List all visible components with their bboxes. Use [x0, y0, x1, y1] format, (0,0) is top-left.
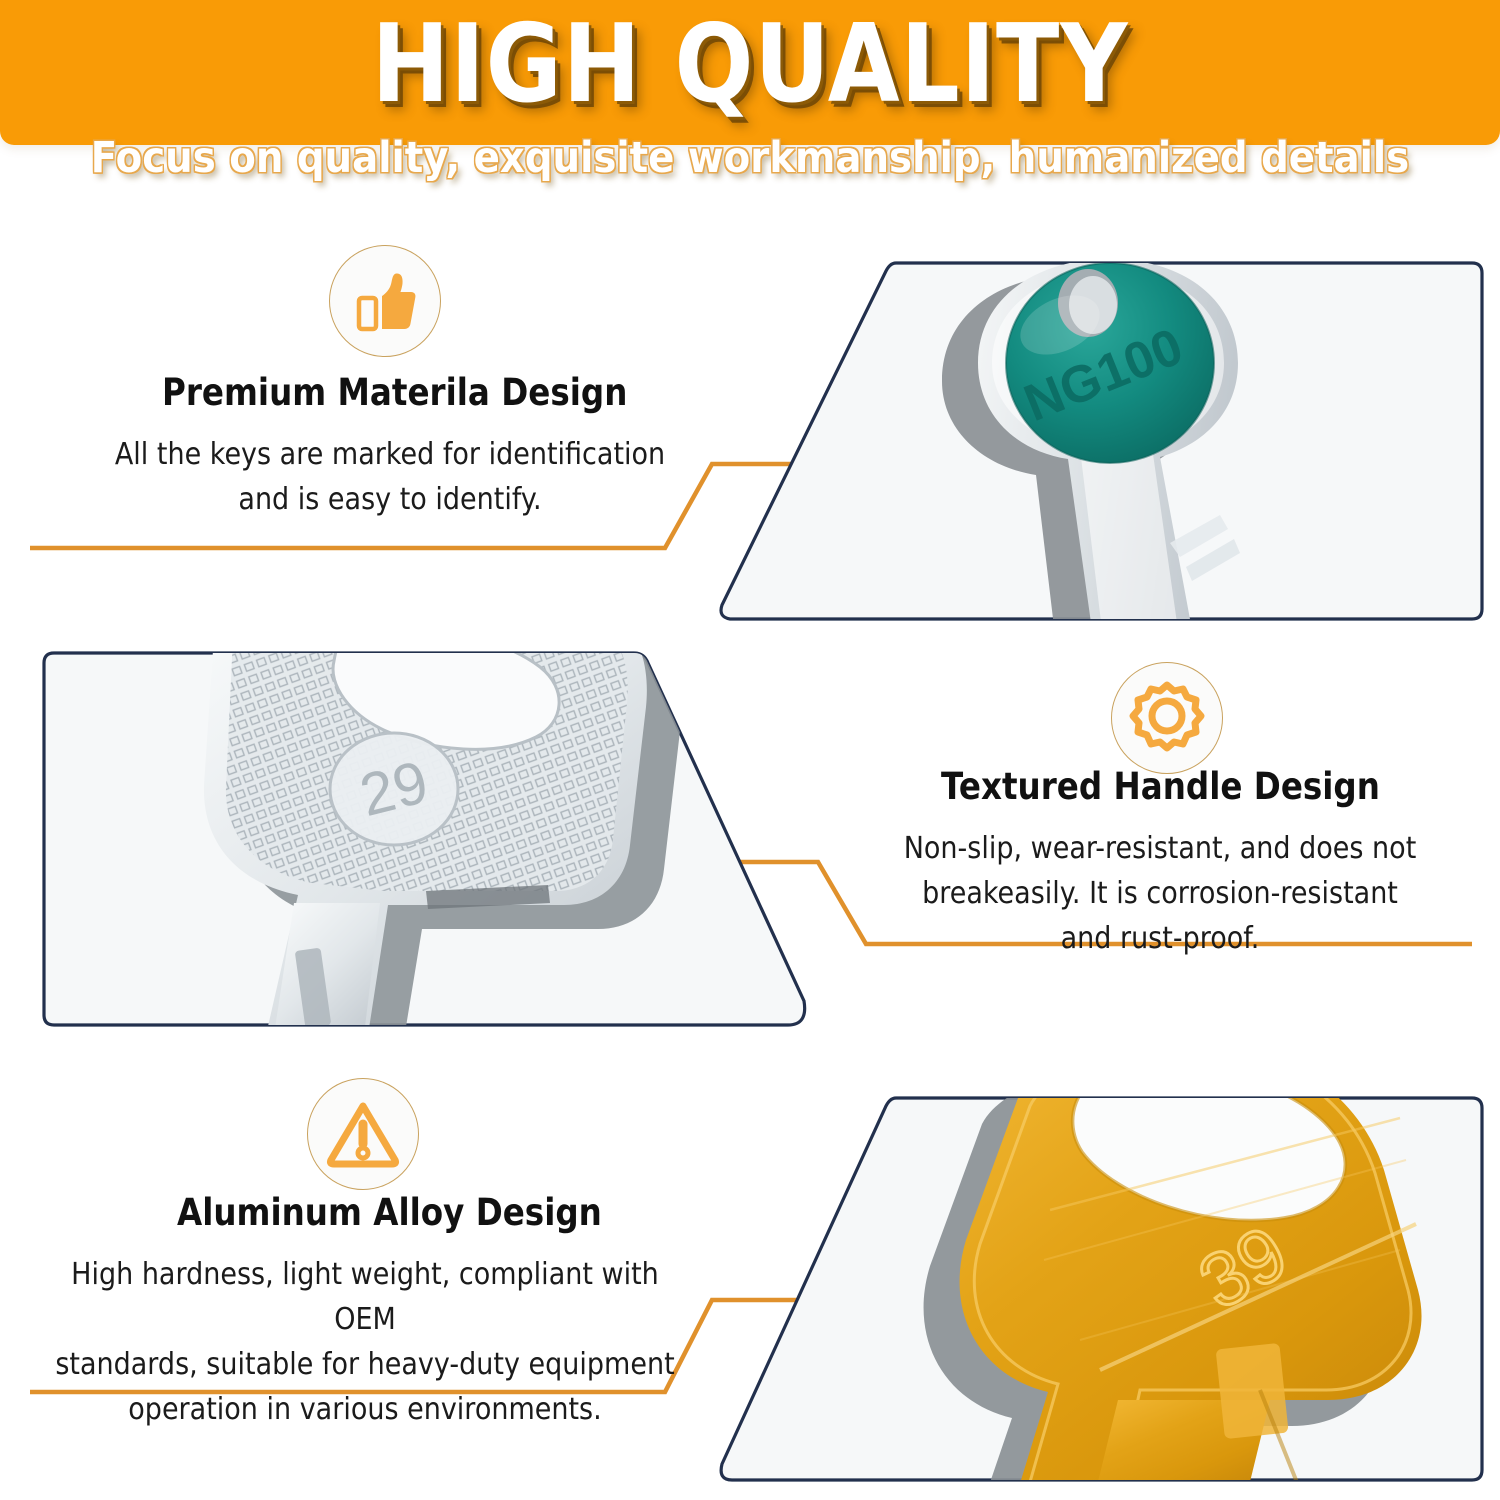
- feature-body-textured-handle: Non-slip, wear-resistant, and does not b…: [872, 826, 1448, 961]
- feature-body-line: standards, suitable for heavy-duty equip…: [46, 1342, 685, 1387]
- infographic-page: HIGH QUALITY Focus on quality, exquisite…: [0, 0, 1500, 1500]
- photo-panel-key-39: 39: [700, 1090, 1500, 1490]
- feature-body-aluminum-alloy: High hardness, light weight, compliant w…: [46, 1252, 685, 1432]
- photo-panel-key-ng100: NG100: [700, 255, 1500, 630]
- thumbs-up-icon: [329, 245, 441, 357]
- photo-panel-key-29: 29: [28, 645, 818, 1035]
- feature-body-line: breakeasily. It is corrosion-resistant: [872, 871, 1448, 916]
- feature-body-line: and rust-proof.: [872, 916, 1448, 961]
- feature-title-aluminum-alloy: Aluminum Alloy Design: [177, 1190, 602, 1236]
- feature-body-line: operation in various environments.: [46, 1387, 685, 1432]
- feature-body-line: All the keys are marked for identificati…: [93, 432, 687, 477]
- feature-body-premium-material: All the keys are marked for identificati…: [93, 432, 687, 522]
- feature-body-line: High hardness, light weight, compliant w…: [46, 1252, 685, 1342]
- feature-title-premium-material: Premium Materila Design: [162, 370, 627, 416]
- feature-body-line: and is easy to identify.: [93, 477, 687, 522]
- feature-title-textured-handle: Textured Handle Design: [941, 764, 1380, 810]
- page-subtitle: Focus on quality, exquisite workmanship,…: [75, 132, 1425, 184]
- feature-body-line: Non-slip, wear-resistant, and does not: [872, 826, 1448, 871]
- page-title: HIGH QUALITY: [105, 6, 1395, 124]
- gear-icon: [1111, 662, 1223, 774]
- warning-triangle-icon: [307, 1078, 419, 1190]
